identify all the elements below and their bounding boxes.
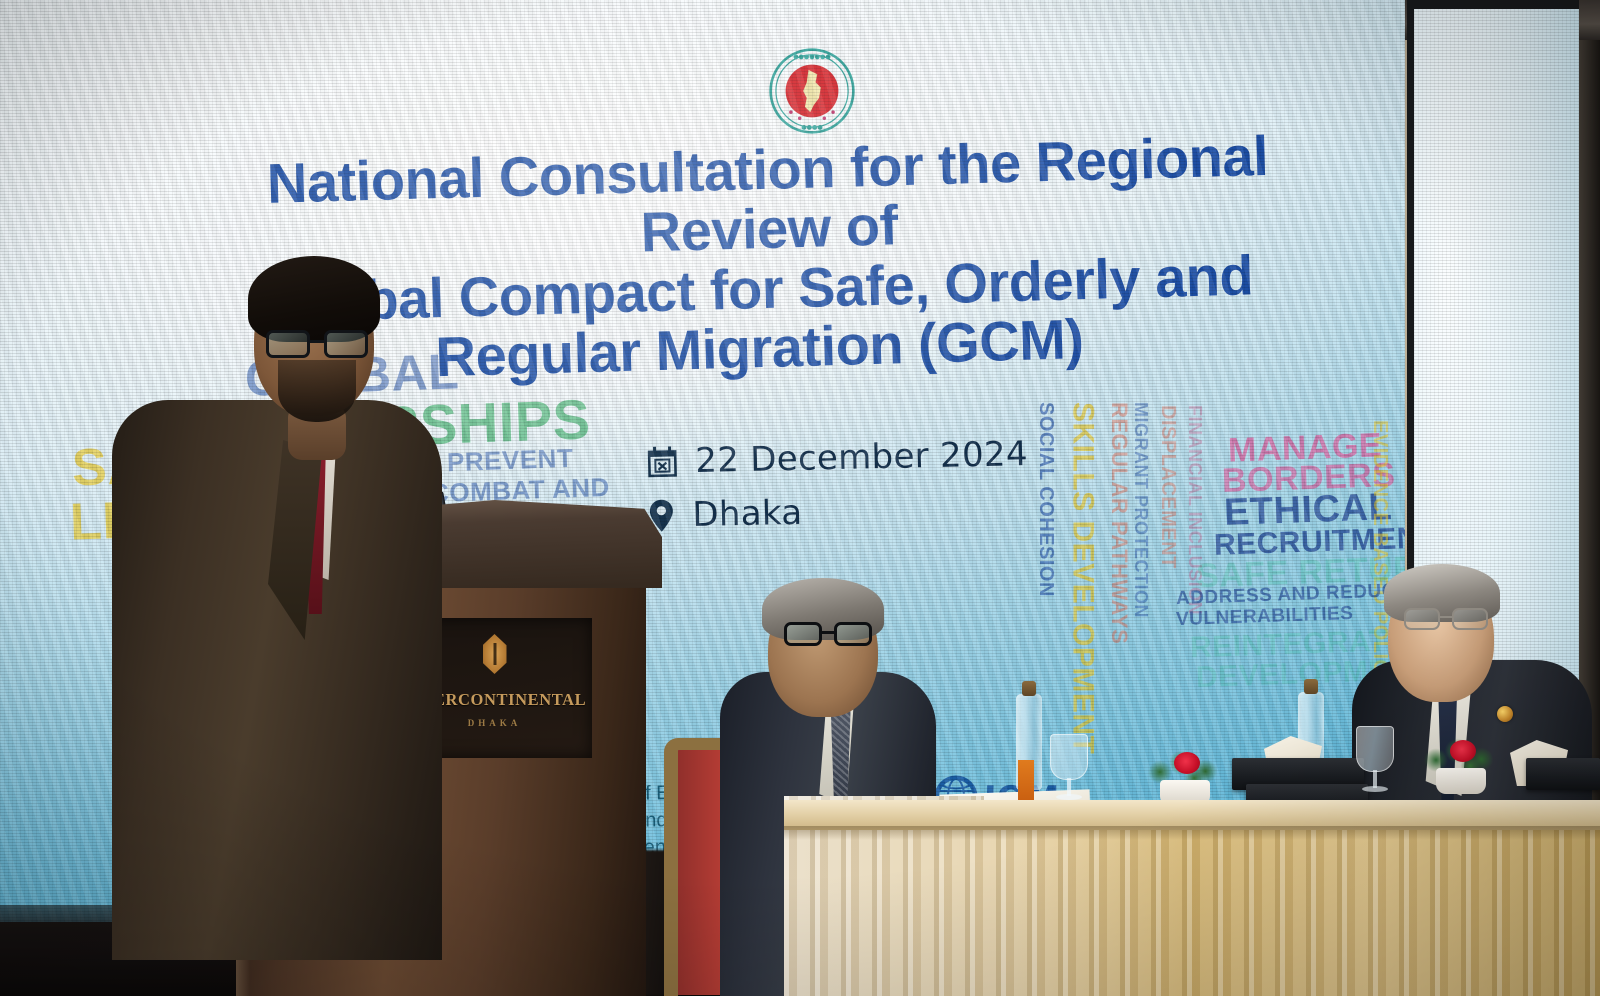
- red-flower: [1174, 752, 1200, 774]
- eyeglass-bridge: [822, 631, 834, 634]
- red-flower: [1450, 740, 1476, 762]
- glass-bowl: [1356, 726, 1394, 772]
- photo-scene: GLOBALPARTNERSHIPSSAVELIVESPREVENTCOMBAT…: [0, 0, 1600, 996]
- flower-arrangement-left: [1146, 742, 1224, 804]
- plant-pot: [1436, 768, 1486, 794]
- eyeglass-lens-right: [834, 622, 872, 646]
- nameplate-right: [1526, 758, 1600, 790]
- table-skirt-pleats: [784, 828, 1600, 996]
- table-flag: [1018, 760, 1034, 802]
- water-glass-right: [1356, 726, 1394, 796]
- eyeglass-lens-right: [324, 330, 368, 358]
- official-centre-eyeglasses: [784, 622, 880, 648]
- table-top-shadow: [784, 826, 1600, 840]
- glass-bowl: [1050, 734, 1088, 780]
- flower-arrangement-right: [1422, 730, 1500, 792]
- official-right-eyeglasses: [1404, 608, 1496, 632]
- head-table: [784, 800, 1600, 996]
- speaker-suit-jacket: [112, 400, 442, 960]
- glass-foot: [1362, 786, 1388, 792]
- speaker-eyeglasses: [266, 330, 378, 360]
- eyeglass-lens-right: [1452, 608, 1488, 630]
- intercontinental-logo-icon: [483, 634, 507, 674]
- water-glass-left: [1050, 734, 1088, 804]
- lapel-pin-icon: [1497, 706, 1513, 722]
- eyeglass-bridge: [1440, 616, 1452, 618]
- eyeglass-lens-left: [1404, 608, 1440, 630]
- eyeglass-lens-left: [266, 330, 310, 358]
- eyeglass-lens-left: [784, 622, 822, 646]
- speaker-beard: [278, 360, 356, 422]
- table-skirt: [784, 828, 1600, 996]
- eyeglass-bridge: [310, 340, 324, 343]
